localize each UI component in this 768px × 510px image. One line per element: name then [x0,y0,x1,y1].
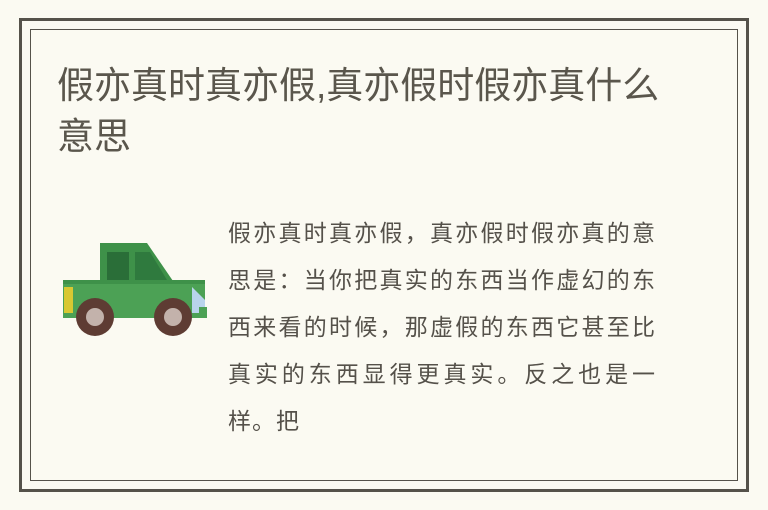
page-title: 假亦真时真亦假,真亦假时假亦真什么意思 [57,60,677,162]
article-body-text: 假亦真时真亦假，真亦假时假亦真的意思是：当你把真实的东西当作虚幻的东西来看的时候… [228,210,656,445]
article-card: 假亦真时真亦假,真亦假时假亦真什么意思 [0,0,768,510]
pickup-truck-icon [55,225,215,340]
pickup-truck-illustration [55,225,215,340]
content-row: 假亦真时真亦假，真亦假时假亦真的意思是：当你把真实的东西当作虚幻的东西来看的时候… [0,205,768,470]
